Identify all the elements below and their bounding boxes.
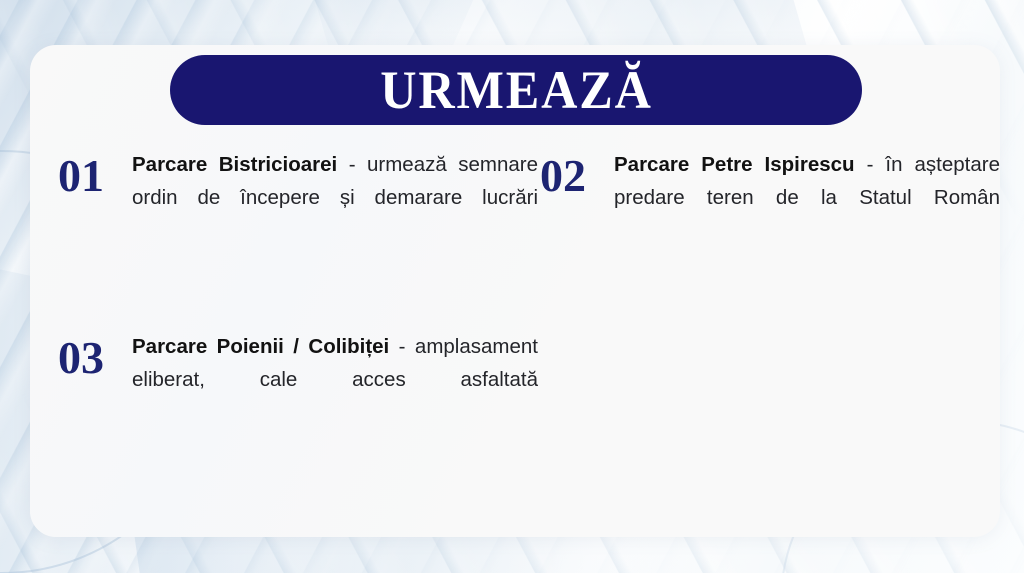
content-card: URMEAZĂ 01 Parcare Bistricioarei - urmea… xyxy=(30,45,1000,537)
list-item-text: Parcare Poienii / Colibiței - amplasamen… xyxy=(132,330,538,429)
list-item-text: Parcare Bistricioarei - urmează semnare … xyxy=(132,148,538,247)
page-title: URMEAZĂ xyxy=(380,63,652,117)
list-item-lead: Parcare Poienii / Colibiței xyxy=(132,335,389,358)
items-list: 01 Parcare Bistricioarei - urmează semna… xyxy=(58,148,1000,518)
list-item-03: 03 Parcare Poienii / Colibiței - amplasa… xyxy=(58,330,538,429)
list-item-lead: Parcare Bistricioarei xyxy=(132,153,337,176)
list-item-text: Parcare Petre Ispirescu - în așteptare p… xyxy=(614,148,1000,247)
title-banner: URMEAZĂ xyxy=(170,55,862,125)
list-item-lead: Parcare Petre Ispirescu xyxy=(614,153,855,176)
list-item-number: 01 xyxy=(58,148,132,198)
list-item-01: 01 Parcare Bistricioarei - urmează semna… xyxy=(58,148,538,247)
list-item-number: 02 xyxy=(540,148,614,198)
presentation-slide: URMEAZĂ 01 Parcare Bistricioarei - urmea… xyxy=(0,0,1024,573)
list-item-02: 02 Parcare Petre Ispirescu - în așteptar… xyxy=(540,148,1000,247)
list-item-number: 03 xyxy=(58,330,132,380)
